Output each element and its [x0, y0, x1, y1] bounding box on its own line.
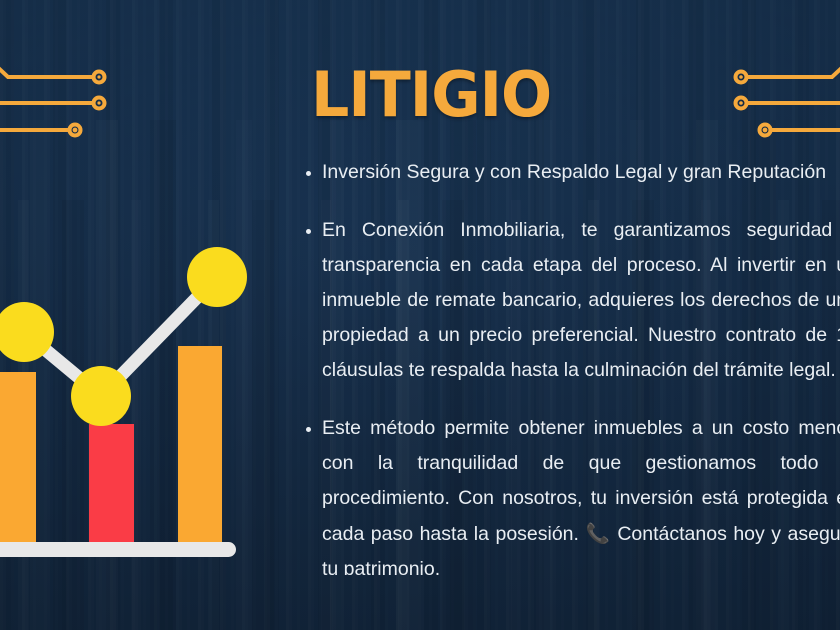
- bullet-item-1: Inversión Segura y con Respaldo Legal y …: [298, 155, 840, 190]
- telephone-receiver-icon: 📞: [585, 522, 610, 545]
- slide-title: LITIGIO: [311, 62, 551, 127]
- chart-bar-1: [0, 372, 36, 544]
- chart-bar-2: [89, 424, 134, 544]
- chart-marker-2: [71, 366, 131, 426]
- chart-marker-3: [187, 247, 247, 307]
- bullet-item-3: Este método permite obtener inmuebles a …: [298, 411, 840, 575]
- circuit-traces-right: [710, 55, 840, 160]
- chart-bar-3: [178, 346, 222, 544]
- bullet-item-2: En Conexión Inmobiliaria, te garantizamo…: [298, 213, 840, 388]
- presentation-slide: LITIGIO Inversión Segura y con Respaldo …: [0, 0, 840, 630]
- bullet-list: Inversión Segura y con Respaldo Legal y …: [298, 155, 840, 575]
- bar-chart-graphic: [0, 244, 274, 574]
- circuit-traces-left: [0, 55, 145, 160]
- chart-baseline: [0, 542, 236, 557]
